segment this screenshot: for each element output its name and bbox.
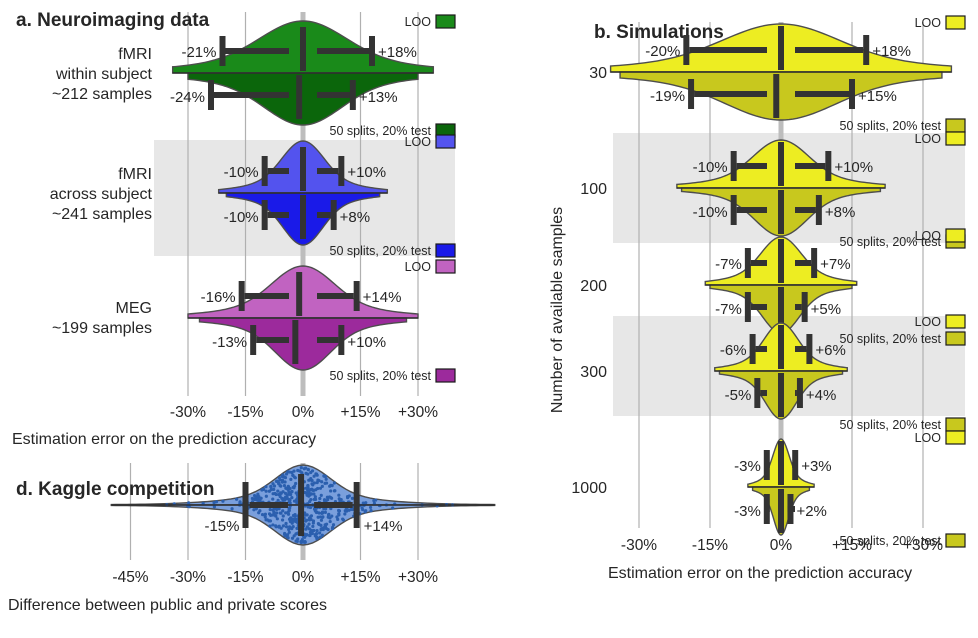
value-high-b-row0-splits: +15% xyxy=(858,88,897,105)
kaggle-point xyxy=(251,497,254,500)
kaggle-point xyxy=(292,514,295,517)
kaggle-point xyxy=(282,524,285,527)
kaggle-point xyxy=(271,482,274,485)
value-high-b-row0-loo: +18% xyxy=(872,43,911,60)
value-low-b-row3-loo: -6% xyxy=(720,342,747,359)
kaggle-point xyxy=(319,487,322,490)
kaggle-point xyxy=(316,536,319,539)
kaggle-point xyxy=(272,488,275,491)
xtick-label-4-panel-d: +15% xyxy=(340,569,380,586)
panel-a-title: a. Neuroimaging data xyxy=(16,10,210,31)
kaggle-point xyxy=(329,520,332,523)
kaggle-point xyxy=(332,523,335,526)
kaggle-point xyxy=(337,494,340,497)
value-high-a-row1-loo: +10% xyxy=(347,164,386,181)
panel-b-title: b. Simulations xyxy=(594,22,724,43)
kaggle-point xyxy=(304,472,307,475)
xtick-label-4-panel-a: +30% xyxy=(398,404,438,421)
kaggle-point xyxy=(321,534,324,537)
value-low-a-row1-loo: -10% xyxy=(224,164,259,181)
kaggle-point xyxy=(322,474,325,477)
kaggle-point xyxy=(308,506,311,509)
kaggle-point xyxy=(325,478,328,481)
kaggle-point xyxy=(278,476,281,479)
yaxis-label-panel-b: Number of available samples xyxy=(549,207,566,413)
value-low-b-row4-splits: -3% xyxy=(734,503,761,520)
kaggle-point xyxy=(320,519,323,522)
legend-splits-b-row0-label: 50 splits, 20% test xyxy=(840,119,942,133)
kaggle-point xyxy=(290,496,293,499)
legend-loo-b-row4-label: LOO xyxy=(915,431,942,445)
kaggle-point xyxy=(291,520,294,523)
kaggle-point xyxy=(256,493,259,496)
kaggle-point xyxy=(310,514,313,517)
kaggle-point xyxy=(294,476,297,479)
value-low-a-row2-loo: -16% xyxy=(201,289,236,306)
kaggle-point xyxy=(311,525,314,528)
legend-loo-b-row0-swatch xyxy=(946,16,965,29)
legend-loo-b-row3-label: LOO xyxy=(915,315,942,329)
kaggle-point xyxy=(315,532,318,535)
kaggle-point xyxy=(271,523,274,526)
kaggle-point xyxy=(276,490,279,493)
kaggle-point xyxy=(292,470,295,473)
kaggle-point xyxy=(314,495,317,498)
kaggle-point xyxy=(327,515,330,518)
kaggle-point xyxy=(321,516,324,519)
kaggle-point xyxy=(273,513,276,516)
kaggle-point xyxy=(277,499,280,502)
kaggle-point xyxy=(333,489,336,492)
violin-row-0-panel-a: -21%+18%-24%+13%fMRIwithin subject~212 s… xyxy=(52,15,455,138)
violin-row-1000-panel-b: -3%+3%-3%+2%1000LOO50 splits, 20% test xyxy=(571,431,965,548)
panel-a: a. Neuroimaging data-21%+18%-24%+13%fMRI… xyxy=(12,10,455,448)
kaggle-point xyxy=(372,499,375,502)
kaggle-point xyxy=(265,495,268,498)
kaggle-point xyxy=(318,497,321,500)
kaggle-point xyxy=(288,509,291,512)
row-label-2-line0-panel-a: MEG xyxy=(116,300,152,317)
legend-loo-a-row0-swatch xyxy=(436,15,455,28)
row-label-0-line2-panel-a: ~212 samples xyxy=(52,86,152,103)
legend-splits-a-row2-label: 50 splits, 20% test xyxy=(330,369,432,383)
legend-loo-b-row4-swatch xyxy=(946,431,965,444)
ytick-label-300-panel-b: 300 xyxy=(580,364,607,381)
kaggle-point xyxy=(258,499,261,502)
kaggle-point xyxy=(235,498,238,501)
kaggle-point xyxy=(294,482,297,485)
kaggle-point xyxy=(325,523,328,526)
value-high-a-row0-splits: +13% xyxy=(359,89,398,106)
kaggle-point xyxy=(268,490,271,493)
kaggle-point xyxy=(321,510,324,513)
value-high-b-row1-splits: +8% xyxy=(825,204,855,221)
kaggle-point xyxy=(287,513,290,516)
kaggle-point xyxy=(276,480,279,483)
kaggle-point xyxy=(289,501,292,504)
kaggle-point xyxy=(338,509,341,512)
value-low-a-row2-splits: -13% xyxy=(212,334,247,351)
kaggle-point xyxy=(306,484,309,487)
kaggle-point xyxy=(317,516,320,519)
value-high-b-row4-splits: +2% xyxy=(796,503,826,520)
kaggle-point xyxy=(341,517,344,520)
legend-loo-a-row1-label: LOO xyxy=(405,135,432,149)
xtick-label-3-panel-b: +15% xyxy=(832,537,872,554)
kaggle-point xyxy=(281,481,284,484)
value-high-b-row4-loo: +3% xyxy=(801,458,831,475)
kaggle-point xyxy=(284,476,287,479)
kaggle-point xyxy=(261,513,264,516)
legend-loo-a-row2-swatch xyxy=(436,260,455,273)
kaggle-point xyxy=(323,482,326,485)
row-label-0-line0-panel-a: fMRI xyxy=(118,46,152,63)
row-label-1-line2-panel-a: ~241 samples xyxy=(52,206,152,223)
kaggle-point xyxy=(336,518,339,521)
value-low-a-row0-loo: -21% xyxy=(181,44,216,61)
kaggle-point xyxy=(309,477,312,480)
xtick-label-1-panel-a: -15% xyxy=(227,404,263,421)
kaggle-point xyxy=(309,471,312,474)
kaggle-point xyxy=(281,509,284,512)
value-low-b-row2-splits: -7% xyxy=(715,301,742,318)
kaggle-point xyxy=(320,494,323,497)
legend-splits-b-row0-swatch xyxy=(946,119,965,132)
legend-splits-b-row2-swatch xyxy=(946,332,965,345)
kaggle-point xyxy=(313,498,316,501)
kaggle-point xyxy=(328,495,331,498)
kaggle-point xyxy=(284,522,287,525)
row-label-0-line1-panel-a: within subject xyxy=(55,66,153,83)
kaggle-point xyxy=(329,489,332,492)
kaggle-point xyxy=(346,495,349,498)
kaggle-point xyxy=(305,519,308,522)
legend-splits-a-row1-label: 50 splits, 20% test xyxy=(330,244,432,258)
legend-loo-b-row1-label: LOO xyxy=(915,132,942,146)
kaggle-point xyxy=(289,478,292,481)
kaggle-point xyxy=(308,534,311,537)
violin-row-2-panel-a: -16%+14%-13%+10%MEG~199 samplesLOO50 spl… xyxy=(52,260,455,383)
kaggle-point xyxy=(364,509,367,512)
value-high-b-row2-splits: +5% xyxy=(811,301,841,318)
kaggle-point xyxy=(288,499,291,502)
value-high-panel-d: +14% xyxy=(364,518,403,535)
kaggle-point xyxy=(318,531,321,534)
xtick-label-2-panel-b: 0% xyxy=(770,537,793,554)
xtick-label-0-panel-d: -45% xyxy=(112,569,148,586)
kaggle-point xyxy=(323,526,326,529)
kaggle-point xyxy=(212,501,215,504)
kaggle-point xyxy=(306,525,309,528)
kaggle-point xyxy=(307,468,310,471)
row-label-1-line1-panel-a: across subject xyxy=(50,186,153,203)
kaggle-point xyxy=(293,534,296,537)
legend-loo-b-row3-swatch xyxy=(946,315,965,328)
kaggle-point xyxy=(298,469,301,472)
xtick-label-5-panel-d: +30% xyxy=(398,569,438,586)
kaggle-point xyxy=(283,484,286,487)
legend-loo-a-row1-swatch xyxy=(436,135,455,148)
kaggle-point xyxy=(268,512,271,515)
kaggle-point xyxy=(306,490,309,493)
kaggle-point xyxy=(306,513,309,516)
kaggle-point xyxy=(230,507,233,510)
value-low-b-row0-splits: -19% xyxy=(650,88,685,105)
kaggle-point xyxy=(307,523,310,526)
kaggle-point xyxy=(369,509,372,512)
kaggle-point xyxy=(314,488,317,491)
value-low-b-row1-splits: -10% xyxy=(693,204,728,221)
legend-loo-b-row1-swatch xyxy=(946,132,965,145)
xtick-label-1-panel-d: -30% xyxy=(170,569,206,586)
kaggle-point xyxy=(319,524,322,527)
value-high-a-row2-splits: +10% xyxy=(347,334,386,351)
kaggle-point xyxy=(324,511,327,514)
kaggle-point xyxy=(369,506,372,509)
kaggle-point xyxy=(337,513,340,516)
value-high-a-row1-splits: +8% xyxy=(340,209,370,226)
legend-loo-a-row2-label: LOO xyxy=(405,260,432,274)
xtick-label-3-panel-d: 0% xyxy=(292,569,315,586)
xtick-label-2-panel-a: 0% xyxy=(292,404,315,421)
panel-d-title: d. Kaggle competition xyxy=(16,479,214,500)
kaggle-point xyxy=(279,511,282,514)
value-high-a-row2-loo: +14% xyxy=(363,289,402,306)
kaggle-point xyxy=(289,516,292,519)
kaggle-point xyxy=(314,472,317,475)
kaggle-point xyxy=(296,537,299,540)
legend-splits-b-row4-swatch xyxy=(946,534,965,547)
figure-canvas: a. Neuroimaging data-21%+18%-24%+13%fMRI… xyxy=(0,0,978,638)
ytick-label-1000-panel-b: 1000 xyxy=(571,480,607,497)
kaggle-point xyxy=(360,506,363,509)
kaggle-point xyxy=(275,493,278,496)
kaggle-point xyxy=(331,527,334,530)
kaggle-point xyxy=(290,490,293,493)
value-high-b-row2-loo: +7% xyxy=(820,256,850,273)
kaggle-point xyxy=(268,525,271,528)
xtick-label-2-panel-d: -15% xyxy=(227,569,263,586)
ytick-label-200-panel-b: 200 xyxy=(580,278,607,295)
value-low-b-row4-loo: -3% xyxy=(734,458,761,475)
kaggle-point xyxy=(295,501,298,504)
legend-loo-b-row2-swatch xyxy=(946,229,965,242)
legend-splits-b-row2-label: 50 splits, 20% test xyxy=(840,332,942,346)
value-low-b-row0-loo: -20% xyxy=(645,43,680,60)
xtick-label-0-panel-a: -30% xyxy=(170,404,206,421)
value-low-b-row1-loo: -10% xyxy=(693,159,728,176)
kaggle-point xyxy=(265,490,268,493)
kaggle-point xyxy=(315,529,318,532)
row-label-2-line1-panel-a: ~199 samples xyxy=(52,320,152,337)
kaggle-point xyxy=(283,533,286,536)
kaggle-point xyxy=(347,509,350,512)
kaggle-point xyxy=(312,521,315,524)
kaggle-point xyxy=(287,536,290,539)
kaggle-point xyxy=(288,525,291,528)
kaggle-point xyxy=(288,470,291,473)
kaggle-point xyxy=(252,508,255,511)
row-label-1-line0-panel-a: fMRI xyxy=(118,166,152,183)
xtick-label-3-panel-a: +15% xyxy=(340,404,380,421)
xtick-label-0-panel-b: -30% xyxy=(621,537,657,554)
kaggle-point xyxy=(271,497,274,500)
kaggle-point xyxy=(292,486,295,489)
value-high-b-row3-loo: +6% xyxy=(815,342,845,359)
kaggle-point xyxy=(351,497,354,500)
legend-splits-a-row1-swatch xyxy=(436,244,455,257)
figure-root: a. Neuroimaging data-21%+18%-24%+13%fMRI… xyxy=(0,0,978,638)
kaggle-point xyxy=(187,501,190,504)
kaggle-point xyxy=(308,500,311,503)
kaggle-point xyxy=(300,466,303,469)
value-low-b-row3-splits: -5% xyxy=(725,387,752,404)
kaggle-point xyxy=(280,527,283,530)
value-high-b-row1-loo: +10% xyxy=(834,159,873,176)
kaggle-point xyxy=(238,500,241,503)
kaggle-point xyxy=(295,498,298,501)
value-low-b-row2-loo: -7% xyxy=(715,256,742,273)
legend-loo-a-row0-label: LOO xyxy=(405,15,432,29)
kaggle-point xyxy=(285,472,288,475)
kaggle-point xyxy=(305,487,308,490)
kaggle-point xyxy=(343,512,346,515)
legend-loo-b-row0-label: LOO xyxy=(915,16,942,30)
legend-splits-b-row3-label: 50 splits, 20% test xyxy=(840,418,942,432)
kaggle-point xyxy=(285,525,288,528)
value-high-a-row0-loo: +18% xyxy=(378,44,417,61)
value-low-a-row1-splits: -10% xyxy=(224,209,259,226)
kaggle-point xyxy=(329,484,332,487)
xtick-label-4-panel-b: +30% xyxy=(903,537,943,554)
kaggle-point xyxy=(257,511,260,514)
xaxis-label-panel-d: Difference between public and private sc… xyxy=(8,597,327,614)
legend-splits-a-row2-swatch xyxy=(436,369,455,382)
xaxis-label-panel-a: Estimation error on the prediction accur… xyxy=(12,431,316,448)
kaggle-point xyxy=(282,514,285,517)
panel-d: d. Kaggle competition-15%+14%-45%-30%-15… xyxy=(8,463,495,614)
kaggle-point xyxy=(323,498,326,501)
kaggle-point xyxy=(275,525,278,528)
kaggle-point xyxy=(281,518,284,521)
xtick-label-1-panel-b: -15% xyxy=(692,537,728,554)
kaggle-point xyxy=(327,528,330,531)
kaggle-point xyxy=(221,500,224,503)
kaggle-point xyxy=(260,488,263,491)
kaggle-point xyxy=(307,495,310,498)
kaggle-point xyxy=(302,540,305,543)
kaggle-point xyxy=(317,479,320,482)
kaggle-point xyxy=(279,485,282,488)
xaxis-label-panel-b: Estimation error on the prediction accur… xyxy=(608,565,912,582)
ytick-label-100-panel-b: 100 xyxy=(580,181,607,198)
legend-splits-b-row3-swatch xyxy=(946,418,965,431)
kaggle-point xyxy=(269,485,272,488)
kaggle-point xyxy=(268,519,271,522)
kaggle-point xyxy=(313,481,316,484)
kaggle-point xyxy=(264,485,267,488)
kaggle-point xyxy=(269,508,272,511)
kaggle-point xyxy=(303,467,306,470)
kaggle-point xyxy=(391,506,394,509)
kaggle-point xyxy=(283,497,286,500)
value-high-b-row3-splits: +4% xyxy=(806,387,836,404)
value-low-panel-d: -15% xyxy=(204,518,239,535)
legend-loo-b-row2-label: LOO xyxy=(915,229,942,243)
kaggle-point xyxy=(333,481,336,484)
kaggle-point xyxy=(308,518,311,521)
kaggle-point xyxy=(281,490,284,493)
kaggle-point xyxy=(344,509,347,512)
kaggle-point xyxy=(303,536,306,539)
ytick-label-30-panel-b: 30 xyxy=(589,65,607,82)
value-low-a-row0-splits: -24% xyxy=(170,89,205,106)
panel-b: b. Simulations-20%+18%-19%+15%30LOO50 sp… xyxy=(549,16,965,582)
